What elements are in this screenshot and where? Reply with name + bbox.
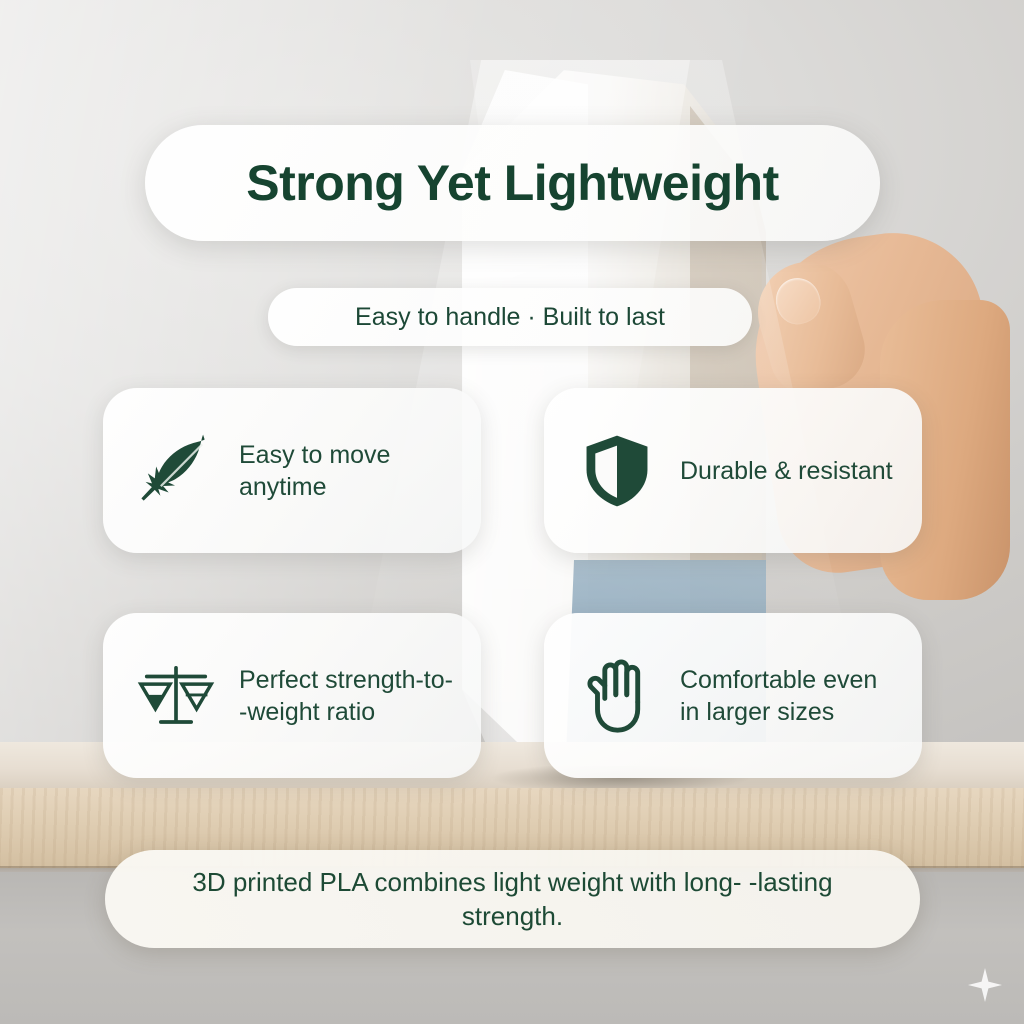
shield-icon (578, 429, 656, 513)
feature-card-label: Comfortable even in larger sizes (680, 664, 900, 728)
feature-card-strength-to-weight[interactable]: Perfect strength-to- -weight ratio (103, 613, 481, 778)
scale-icon (137, 654, 215, 738)
feature-card-label: Durable & resistant (680, 455, 893, 487)
page-title: Strong Yet Lightweight (246, 154, 779, 212)
ui-overlay: Strong Yet Lightweight Easy to handle · … (0, 0, 1024, 1024)
page-subtitle: Easy to handle · Built to last (355, 303, 665, 332)
feature-card-durable-resistant[interactable]: Durable & resistant (544, 388, 922, 553)
footer-caption: 3D printed PLA combines light weight wit… (151, 865, 874, 934)
footer-pill: 3D printed PLA combines light weight wit… (105, 850, 920, 948)
product-feature-card-scene: Strong Yet Lightweight Easy to handle · … (0, 0, 1024, 1024)
feature-card-label: Easy to move anytime (239, 439, 459, 503)
subtitle-pill: Easy to handle · Built to last (268, 288, 752, 346)
feather-icon (137, 429, 215, 513)
feature-card-grid: Easy to move anytime Durable & resistant (103, 388, 922, 778)
feature-card-label: Perfect strength-to- -weight ratio (239, 664, 459, 728)
open-hand-icon (578, 654, 656, 738)
title-pill: Strong Yet Lightweight (145, 125, 880, 241)
feature-card-easy-to-move[interactable]: Easy to move anytime (103, 388, 481, 553)
feature-card-comfortable-larger-sizes[interactable]: Comfortable even in larger sizes (544, 613, 922, 778)
